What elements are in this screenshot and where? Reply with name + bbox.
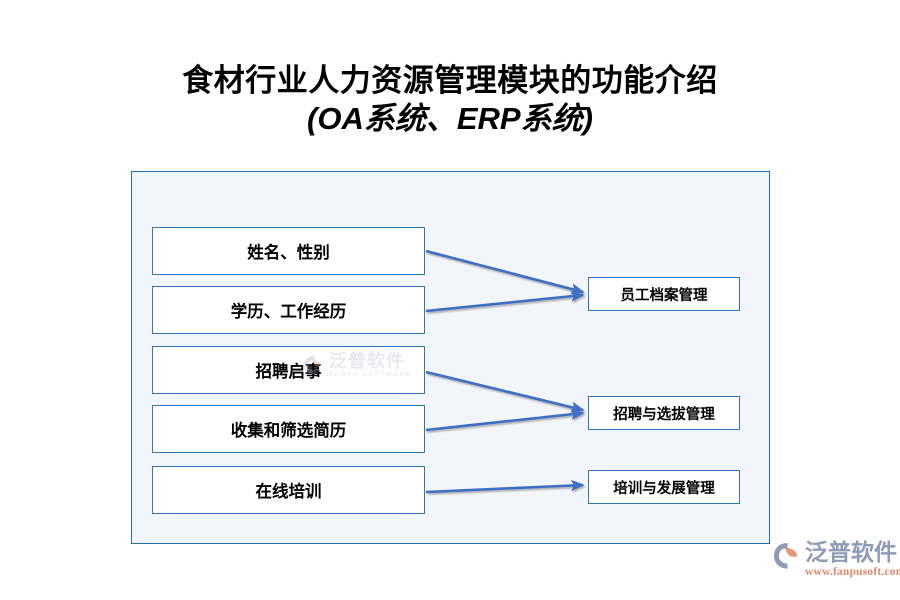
page-title: 食材行业人力资源管理模块的功能介绍 (OA系统、ERP系统) [0,62,900,138]
node-employee-file-management[interactable]: 员工档案管理 [588,277,740,311]
node-name-gender[interactable]: 姓名、性别 [152,227,425,275]
node-label: 收集和筛选简历 [231,417,347,441]
brand-logo: 泛普软件 www.fanpusoft.com [772,541,900,578]
node-label: 招聘与选拔管理 [613,403,715,424]
node-collect-screen-resume[interactable]: 收集和筛选简历 [152,405,425,453]
page-title-line-1: 食材行业人力资源管理模块的功能介绍 [0,62,900,100]
fanpu-logo-icon [772,541,802,571]
page-title-line-2: (OA系统、ERP系统) [0,100,900,138]
node-label: 培训与发展管理 [613,477,715,498]
node-label: 员工档案管理 [621,284,708,305]
node-education-experience[interactable]: 学历、工作经历 [152,286,425,334]
node-label: 姓名、性别 [247,239,330,263]
node-recruit-select-management[interactable]: 招聘与选拔管理 [588,396,740,430]
node-label: 在线培训 [256,478,322,502]
node-online-training[interactable]: 在线培训 [152,466,425,514]
node-recruitment-notice[interactable]: 招聘启事 [152,346,425,394]
brand-name: 泛普软件 [805,541,900,565]
node-training-development-management[interactable]: 培训与发展管理 [588,470,740,504]
brand-url: www.fanpusoft.com [805,566,900,578]
node-label: 招聘启事 [256,358,322,382]
node-label: 学历、工作经历 [231,298,347,322]
